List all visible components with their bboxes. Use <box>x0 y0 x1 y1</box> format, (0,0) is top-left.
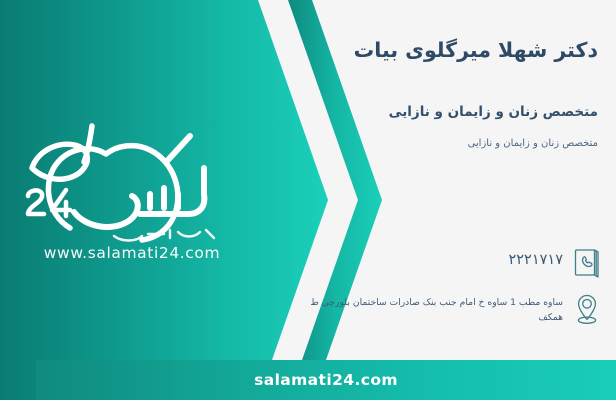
phone-book-icon <box>572 246 602 280</box>
footer-website-text[interactable]: salamati24.com <box>254 371 398 389</box>
business-card: www.salamati24.com دکتر شهلا میرگلوی بیا… <box>0 0 616 400</box>
map-pin-icon <box>572 292 602 326</box>
doctor-specialty-primary: متخصص زنان و زایمان و نازایی <box>304 103 598 122</box>
phone-row[interactable]: ۲۲۲۱۷۱۷ <box>302 246 602 280</box>
doctor-name: دکتر شهلا میرگلوی بیات <box>304 37 598 65</box>
phone-number-text: ۲۲۲۱۷۱۷ <box>302 246 563 268</box>
info-column: دکتر شهلا میرگلوی بیات متخصص زنان و زایم… <box>286 0 616 400</box>
apple-outline-icon <box>18 96 246 246</box>
brand-logo: www.salamati24.com <box>18 96 246 276</box>
address-text-block: ساوه مطب 1 ساوه خ امام جنب بنک صادرات سا… <box>302 292 563 325</box>
address-line-1: ساوه مطب 1 ساوه خ امام جنب بنک صادرات سا… <box>302 295 563 310</box>
footer-bar: salamati24.com <box>36 360 616 400</box>
address-row[interactable]: ساوه مطب 1 ساوه خ امام جنب بنک صادرات سا… <box>302 292 602 326</box>
address-line-2: همکف <box>302 310 563 325</box>
doctor-specialty-secondary: متخصص زنان و زایمان و نازایی <box>304 136 598 151</box>
logo-website-text: www.salamati24.com <box>18 244 246 262</box>
